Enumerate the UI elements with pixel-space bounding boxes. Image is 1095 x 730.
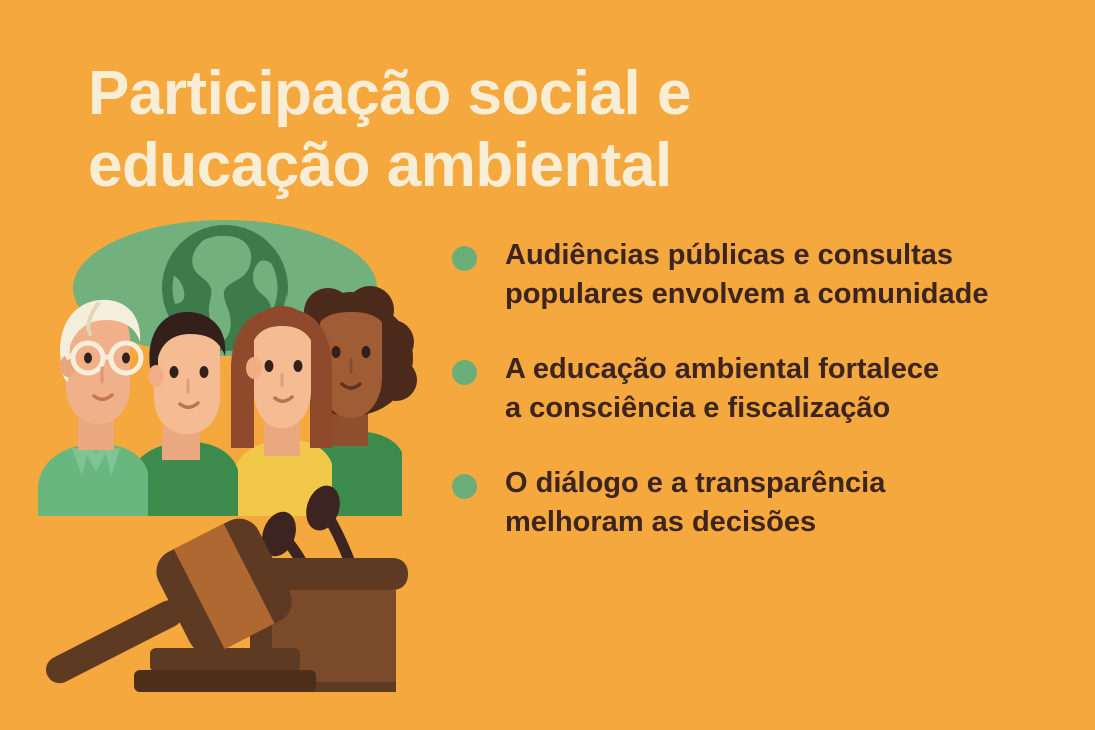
bullet-text: O diálogo e a transparência melhoram as … [505,464,885,542]
public-hearing-illustration [10,200,440,700]
bullet-text: A educação ambiental fortalece a consciê… [505,350,939,428]
slide-canvas: Participação social e educação ambiental… [0,0,1095,730]
list-item: O diálogo e a transparência melhoram as … [452,464,1052,542]
list-item: Audiências públicas e consultas populare… [452,236,1052,314]
bullet-text: Audiências públicas e consultas populare… [505,236,988,314]
illustration-svg [10,200,440,700]
bullet-dot-icon [452,360,477,385]
person-4-eye-right [362,346,371,358]
person-2-eye-left [170,366,179,378]
person-3-eye-left [265,360,274,372]
person-3-eye-right [294,360,303,372]
bullet-2-line-2: a consciência e fiscalização [505,389,939,428]
list-item: A educação ambiental fortalece a consciê… [452,350,1052,428]
person-1-eye-right [122,353,130,364]
title-line-1: Participação social e [88,58,788,130]
bullet-2-line-1: A educação ambiental fortalece [505,350,939,389]
bullet-dot-icon [452,246,477,271]
bullet-dot-icon [452,474,477,499]
sound-block-base [134,670,316,692]
bullet-3-line-2: melhoram as decisões [505,503,885,542]
gavel-sound-block [134,648,316,692]
title-line-2: educação ambiental [88,130,788,202]
page-title: Participação social e educação ambiental [88,58,788,202]
person-2-eye-right [200,366,209,378]
sound-block-top [150,648,300,672]
bullet-1-line-2: populares envolvem a comunidade [505,275,988,314]
person-4-eye-left [332,346,341,358]
person-1-eye-left [84,353,92,364]
bullet-list: Audiências públicas e consultas populare… [452,236,1052,578]
bullet-3-line-1: O diálogo e a transparência [505,464,885,503]
bullet-1-line-1: Audiências públicas e consultas [505,236,988,275]
podium-top [272,558,408,590]
